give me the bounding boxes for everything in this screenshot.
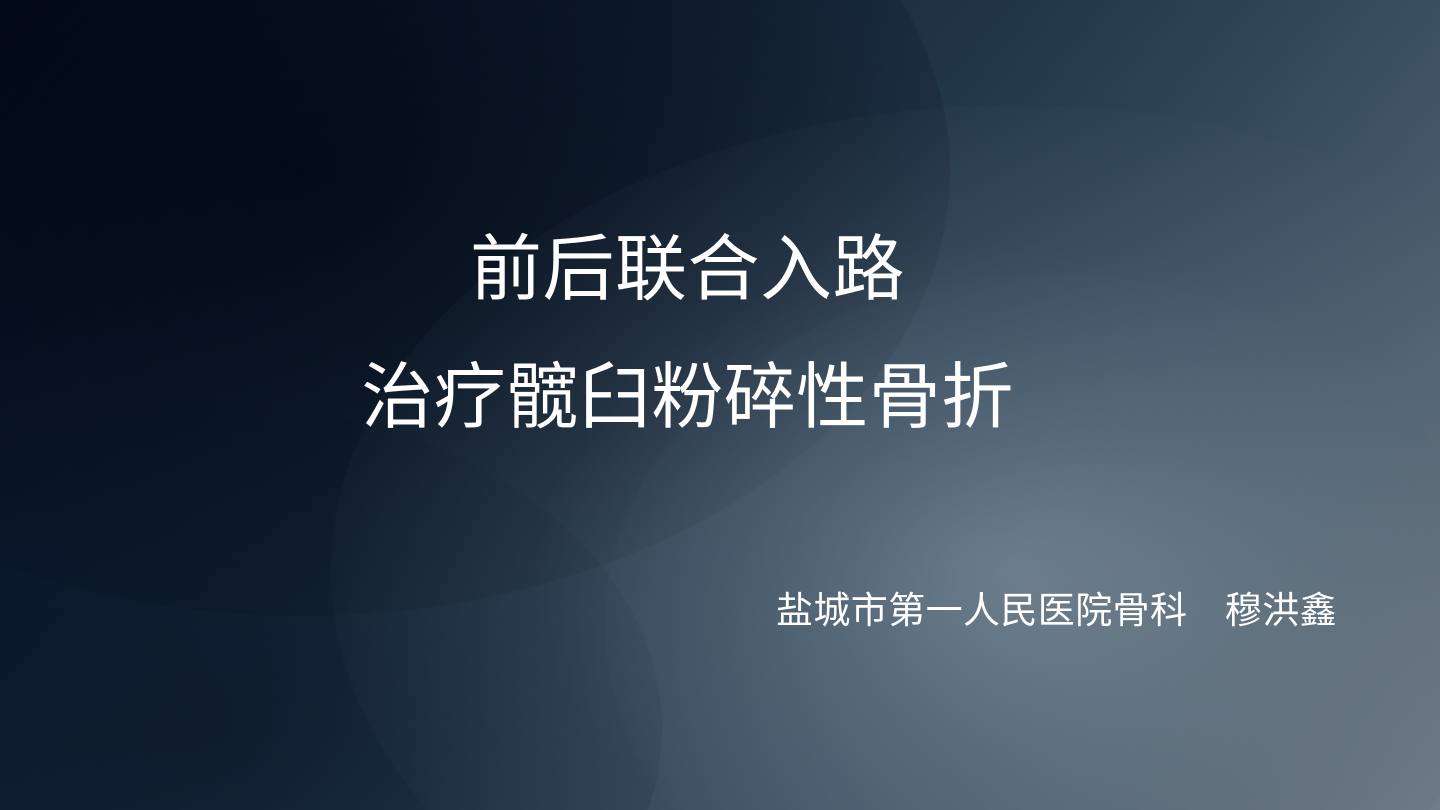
subtitle-affiliation-and-author: 盐城市第一人民医院骨科 穆洪鑫: [776, 585, 1337, 637]
background-glow-bottom-right: [331, 105, 1440, 810]
slide-title: 前后联合入路 治疗髋臼粉碎性骨折: [0, 206, 1375, 462]
title-line-1: 前后联合入路: [0, 206, 1375, 334]
title-slide: 前后联合入路 治疗髋臼粉碎性骨折 盐城市第一人民医院骨科 穆洪鑫: [0, 0, 1440, 810]
background-shade-bottom-left: [0, 405, 662, 810]
background-shade-top-left: [0, 0, 950, 616]
title-line-2: 治疗髋臼粉碎性骨折: [0, 334, 1375, 462]
slide-subtitle: 盐城市第一人民医院骨科 穆洪鑫: [0, 585, 1337, 637]
background-glow-center: [605, 275, 1440, 810]
